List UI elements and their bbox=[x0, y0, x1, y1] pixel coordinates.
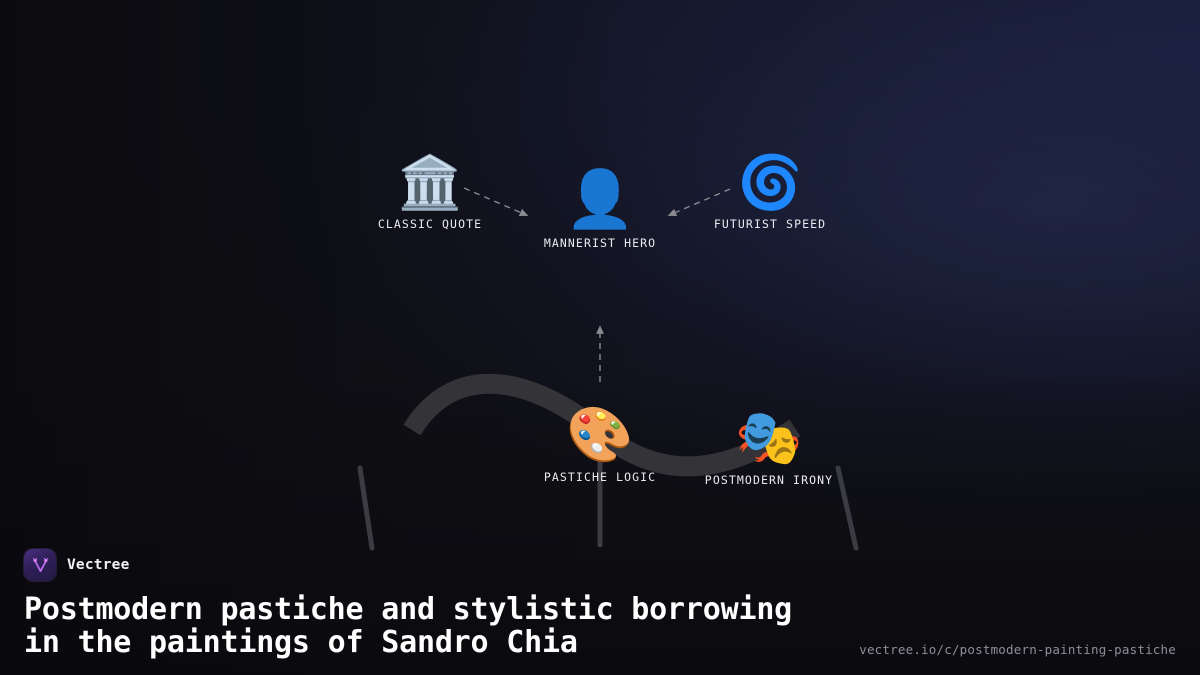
node-label-classic-quote: CLASSIC QUOTE bbox=[378, 217, 482, 231]
node-pastiche-logic[interactable]: 🎨 PASTICHE LOGIC bbox=[510, 408, 690, 484]
source-url: vectree.io/c/postmodern-painting-pastich… bbox=[859, 642, 1176, 657]
tick-left bbox=[360, 468, 372, 548]
node-futurist-speed[interactable]: 🌀 FUTURIST SPEED bbox=[680, 157, 860, 231]
brand-name: Vectree bbox=[67, 557, 130, 573]
page-title: Postmodern pastiche and stylistic borrow… bbox=[24, 594, 824, 659]
node-label-futurist-speed: FUTURIST SPEED bbox=[714, 217, 826, 231]
node-label-mannerist-hero: MANNERIST HERO bbox=[544, 236, 656, 250]
artist-palette-icon: 🎨 bbox=[566, 408, 633, 462]
performing-arts-masks-icon: 🎭 bbox=[735, 411, 802, 465]
footer: Vectree Postmodern pastiche and stylisti… bbox=[24, 549, 1176, 659]
node-postmodern-irony[interactable]: 🎭 POSTMODERN IRONY bbox=[679, 411, 859, 487]
infographic-canvas: 🏛️ CLASSIC QUOTE 👤 MANNERIST HERO 🌀 FUTU… bbox=[0, 0, 1200, 675]
node-label-postmodern-irony: POSTMODERN IRONY bbox=[705, 473, 833, 487]
node-mannerist-hero[interactable]: 👤 MANNERIST HERO bbox=[510, 172, 690, 250]
classical-building-icon: 🏛️ bbox=[398, 157, 463, 209]
node-label-pastiche-logic: PASTICHE LOGIC bbox=[544, 470, 656, 484]
spiral-icon: 🌀 bbox=[738, 157, 803, 209]
vectree-logo[interactable] bbox=[24, 549, 56, 581]
vectree-tree-logo-icon bbox=[31, 556, 50, 575]
brand-row[interactable]: Vectree bbox=[24, 549, 1176, 581]
node-classic-quote[interactable]: 🏛️ CLASSIC QUOTE bbox=[340, 157, 520, 231]
bust-in-silhouette-icon: 👤 bbox=[565, 172, 635, 228]
